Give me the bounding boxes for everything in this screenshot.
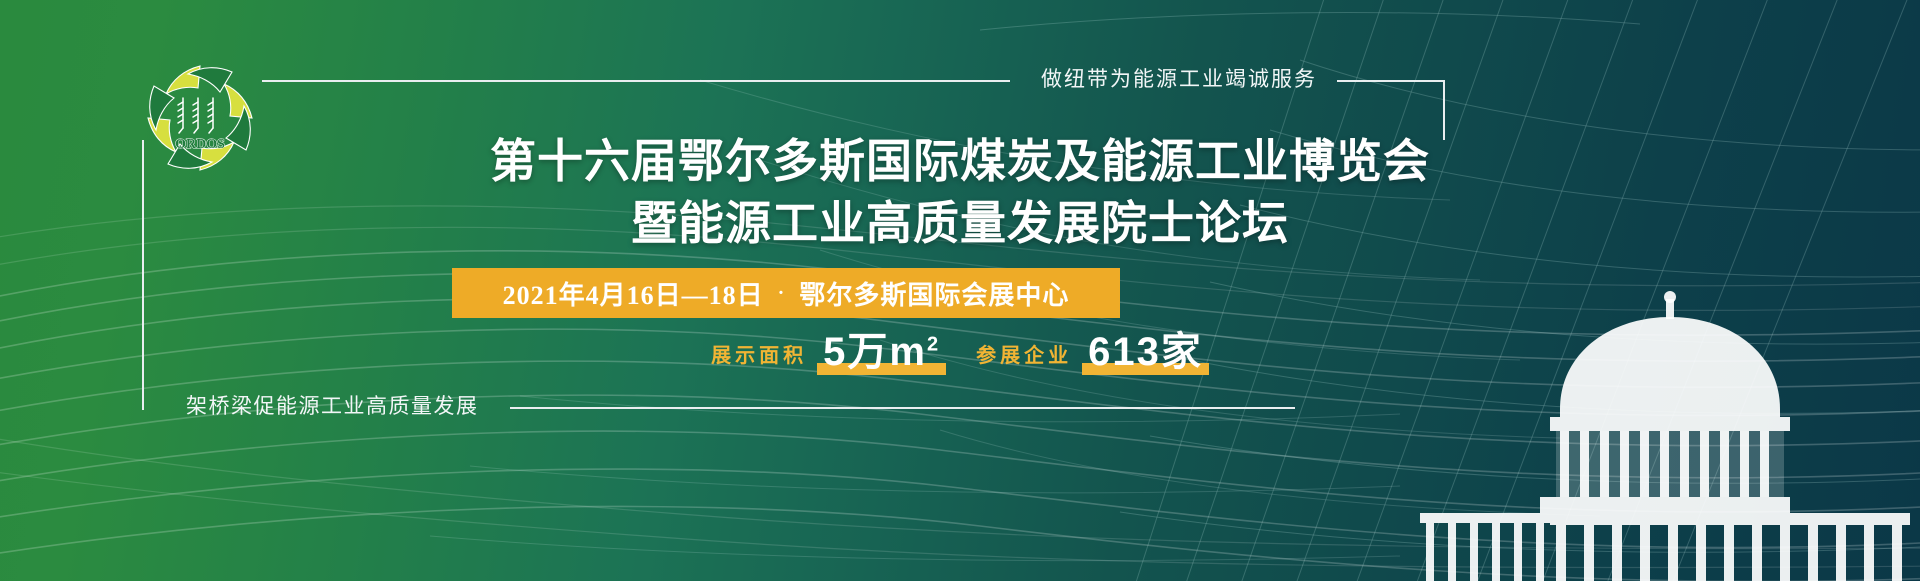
stat-exhibitor-count: 参展企业 613家 xyxy=(976,332,1209,374)
date-venue-bar: 2021年4月16日—18日 · 鄂尔多斯国际会展中心 xyxy=(452,268,1120,318)
tagline-bottom-left: 架桥梁促能源工业高质量发展 xyxy=(186,393,479,420)
event-title-line-1: 第十六届鄂尔多斯国际煤炭及能源工业博览会 xyxy=(0,134,1920,190)
stats-row: 展示面积 5万m2 参展企业 613家 xyxy=(0,332,1920,374)
date-venue-separator: · xyxy=(764,282,800,305)
title-block: 第十六届鄂尔多斯国际煤炭及能源工业博览会 暨能源工业高质量发展院士论坛 xyxy=(0,134,1920,252)
divider-bottom xyxy=(510,407,1295,409)
tagline-top-right: 做纽带为能源工业竭诚服务 xyxy=(1041,66,1317,93)
stat-value-exhibitor-count: 613家 xyxy=(1088,332,1203,374)
stat-exhibition-area: 展示面积 5万m2 xyxy=(711,332,946,374)
stat-value-wrap-exhibition-area: 5万m2 xyxy=(817,332,946,374)
stat-value-text-exhibition-area: 5万m xyxy=(823,330,927,374)
corner-bracket-top-right xyxy=(1443,80,1445,140)
event-date: 2021年4月16日—18日 xyxy=(503,275,764,312)
stat-label-exhibition-area: 展示面积 xyxy=(711,339,807,374)
stat-value-superscript-exhibition-area: 2 xyxy=(927,334,940,356)
stat-value-exhibition-area: 5万m2 xyxy=(823,332,940,374)
divider-top-right xyxy=(1337,80,1445,82)
stat-label-exhibitor-count: 参展企业 xyxy=(976,339,1072,374)
expo-banner: ORDOS 做纽带为能源工业竭诚服务 架桥梁促能源工业高质量发展 第十六届鄂尔多… xyxy=(0,0,1920,581)
event-title-line-2: 暨能源工业高质量发展院士论坛 xyxy=(0,196,1920,252)
event-venue: 鄂尔多斯国际会展中心 xyxy=(799,275,1069,312)
stat-value-wrap-exhibitor-count: 613家 xyxy=(1082,332,1209,374)
divider-top-left xyxy=(262,80,1010,82)
